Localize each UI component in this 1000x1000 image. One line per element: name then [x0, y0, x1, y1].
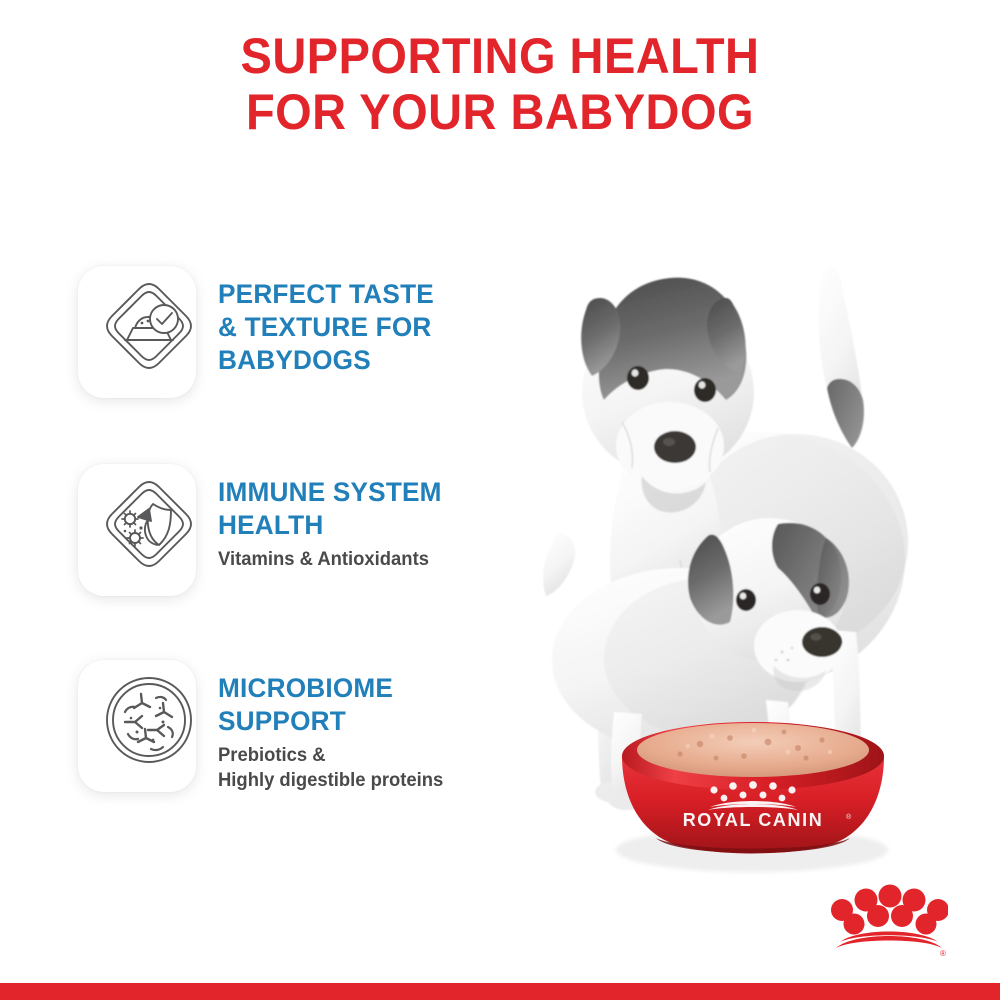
registered-trademark: ®	[940, 949, 946, 958]
royal-canin-food-bowl: ROYAL CANIN ®	[616, 722, 888, 872]
feature-item-immune-system: IMMUNE SYSTEM HEALTH Vitamins & Antioxid…	[0, 456, 520, 606]
shield-germs-icon	[90, 476, 208, 572]
headline-line-2: FOR YOUR BABYDOG	[30, 84, 970, 140]
feature-subtitle: Prebiotics & Highly digestible proteins	[218, 743, 443, 793]
feature-text: IMMUNE SYSTEM HEALTH Vitamins & Antioxid…	[218, 456, 449, 572]
feature-item-microbiome: MICROBIOME SUPPORT Prebiotics & Highly d…	[0, 652, 520, 802]
svg-text:®: ®	[846, 813, 852, 821]
feature-subtitle: Vitamins & Antioxidants	[218, 547, 442, 572]
bottom-accent-bar	[0, 983, 1000, 1000]
feature-item-perfect-taste: PERFECT TASTE & TEXTURE FOR BABYDOGS	[0, 258, 520, 408]
feature-text: PERFECT TASTE & TEXTURE FOR BABYDOGS	[218, 258, 441, 382]
petri-dish-bacteria-icon	[90, 672, 208, 768]
bowl-wordmark: ROYAL CANIN	[683, 810, 824, 830]
dogs-and-bowl-illustration: ROYAL CANIN ®	[530, 160, 1000, 900]
product-feature-poster: SUPPORTING HEALTH FOR YOUR BABYDOG	[0, 0, 1000, 1000]
page-title: SUPPORTING HEALTH FOR YOUR BABYDOG	[0, 28, 1000, 140]
feature-text: MICROBIOME SUPPORT Prebiotics & Highly d…	[218, 652, 450, 793]
food-bowl-check-icon	[90, 278, 208, 374]
product-photo: ROYAL CANIN ®	[530, 160, 1000, 900]
feature-title: MICROBIOME SUPPORT	[218, 672, 443, 738]
feature-title: IMMUNE SYSTEM HEALTH	[218, 476, 442, 542]
feature-list: PERFECT TASTE & TEXTURE FOR BABYDOGS	[0, 258, 520, 802]
feature-title: PERFECT TASTE & TEXTURE FOR BABYDOGS	[218, 278, 434, 377]
royal-canin-crown-icon: ®	[830, 872, 948, 958]
headline-line-1: SUPPORTING HEALTH	[30, 28, 970, 84]
